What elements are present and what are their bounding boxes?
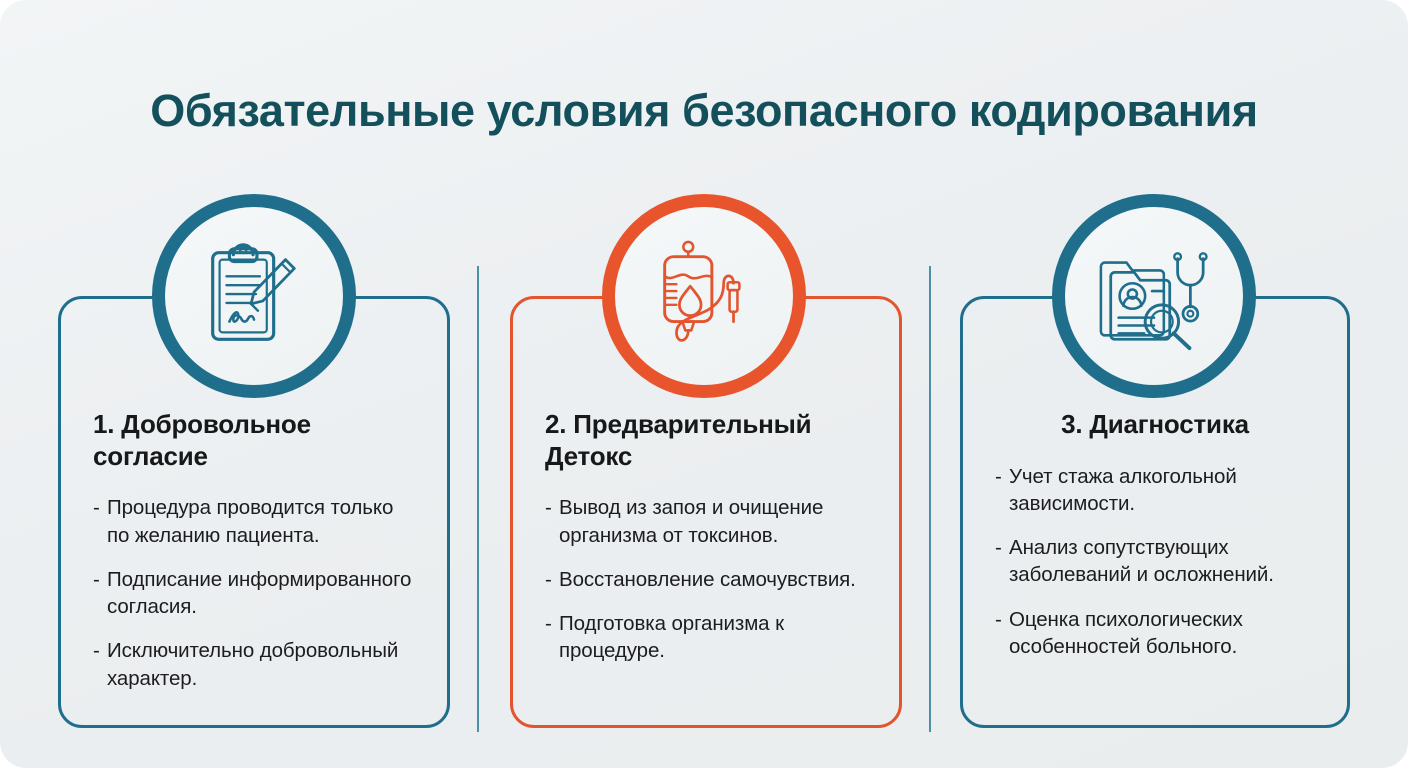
column-divider-2 (929, 266, 931, 732)
list-item: - Восстановление самочувствия. (545, 566, 867, 593)
bullet-text: Исключительно добровольный характер. (107, 637, 415, 692)
bullet-text: Подписание информированного согласия. (107, 566, 415, 621)
list-item: - Анализ сопутствующих заболеваний и осл… (995, 534, 1315, 589)
bullet-dash-icon: - (545, 566, 559, 593)
card-2-bullet-list: - Вывод из запоя и очищение организма от… (545, 494, 867, 664)
bullet-text: Учет стажа алкогольной зависимости. (1009, 463, 1315, 518)
icon-circle-diagnostics (1052, 194, 1256, 398)
list-item: - Вывод из запоя и очищение организма от… (545, 494, 867, 549)
column-divider-1 (477, 266, 479, 732)
card-3-bullet-list: - Учет стажа алкогольной зависимости. - … (995, 463, 1315, 661)
list-item: - Учет стажа алкогольной зависимости. (995, 463, 1315, 518)
list-item: - Процедура проводится только по желанию… (93, 494, 415, 549)
card-1-content: 1. Добровольное согласие - Процедура про… (61, 409, 447, 692)
bullet-text: Вывод из запоя и очищение организма от т… (559, 494, 867, 549)
bullet-dash-icon: - (995, 463, 1009, 490)
bullet-dash-icon: - (995, 606, 1009, 633)
card-1-heading: 1. Добровольное согласие (93, 409, 415, 472)
card-2-heading: 2. Предварительный Детокс (545, 409, 867, 472)
bullet-text: Процедура проводится только по желанию п… (107, 494, 415, 549)
bullet-text: Оценка психологических особенностей боль… (1009, 606, 1315, 661)
bullet-text: Подготовка организма к процедуре. (559, 610, 867, 665)
bullet-text: Восстановление самочувствия. (559, 566, 867, 593)
bullet-dash-icon: - (93, 566, 107, 593)
page-title: Обязательные условия безопасного кодиров… (0, 86, 1408, 136)
infographic-poster: Обязательные условия безопасного кодиров… (0, 0, 1408, 768)
card-2-content: 2. Предварительный Детокс - Вывод из зап… (513, 409, 899, 665)
bullet-text: Анализ сопутствующих заболеваний и ослож… (1009, 534, 1315, 589)
icon-circle-voluntary-consent (152, 194, 356, 398)
list-item: - Оценка психологических особенностей бо… (995, 606, 1315, 661)
list-item: - Подписание информированного согласия. (93, 566, 415, 621)
list-item: - Подготовка организма к процедуре. (545, 610, 867, 665)
clipboard-signature-icon (195, 237, 313, 355)
bullet-dash-icon: - (93, 637, 107, 664)
bullet-dash-icon: - (545, 610, 559, 637)
card-3-heading: 3. Диагностика (995, 409, 1315, 441)
bullet-dash-icon: - (93, 494, 107, 521)
card-1-bullet-list: - Процедура проводится только по желанию… (93, 494, 415, 692)
medical-record-magnifier-stethoscope-icon (1095, 237, 1213, 355)
bullet-dash-icon: - (545, 494, 559, 521)
list-item: - Исключительно добровольный характер. (93, 637, 415, 692)
icon-circle-preliminary-detox (602, 194, 806, 398)
iv-drip-bag-icon (645, 237, 763, 355)
card-3-content: 3. Диагностика - Учет стажа алкогольной … (963, 409, 1347, 660)
bullet-dash-icon: - (995, 534, 1009, 561)
